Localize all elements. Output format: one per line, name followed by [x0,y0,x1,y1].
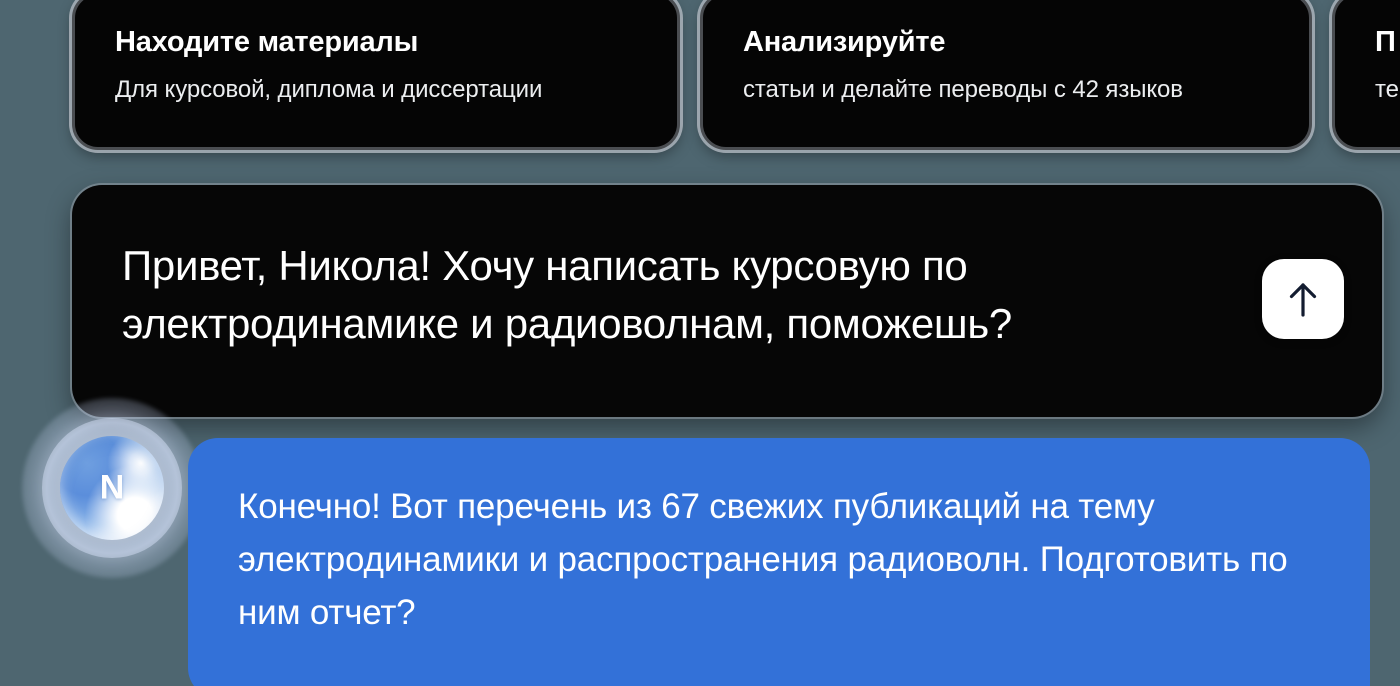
feature-card-subtitle: статьи и делайте переводы с 42 языков [743,75,1295,105]
assistant-message-text: Конечно! Вот перечень из 67 свежих публи… [238,480,1298,639]
feature-cards-row: Находите материалы Для курсовой, диплома… [0,0,1400,160]
feature-card-subtitle: те [1375,75,1400,105]
feature-card-subtitle: Для курсовой, диплома и диссертации [115,75,663,105]
chat-screen: Находите материалы Для курсовой, диплома… [0,0,1400,686]
feature-card-title: Анализируйте [743,25,1295,59]
feature-card-analyze[interactable]: Анализируйте статьи и делайте переводы с… [700,0,1312,150]
assistant-message-bubble[interactable]: Конечно! Вот перечень из 67 свежих публи… [188,438,1370,686]
user-message-bubble[interactable]: Привет, Никола! Хочу написать курсовую п… [72,185,1382,417]
avatar-ring [42,418,182,558]
feature-card-title: П [1375,25,1400,59]
feature-card-third-partial[interactable]: П те [1332,0,1400,150]
user-message-text: Привет, Никола! Хочу написать курсовую п… [122,237,1202,353]
feature-card-title: Находите материалы [115,25,663,59]
avatar-glow [22,398,202,578]
send-button[interactable] [1262,259,1344,339]
assistant-sphere-icon: N [60,436,164,540]
feature-card-content: П те [1375,25,1400,105]
feature-card-content: Находите материалы Для курсовой, диплома… [115,25,663,105]
assistant-avatar: N [22,398,202,578]
feature-card-content: Анализируйте статьи и делайте переводы с… [743,25,1295,105]
avatar-letter: N [60,470,164,504]
feature-card-find-materials[interactable]: Находите материалы Для курсовой, диплома… [72,0,680,150]
arrow-up-icon [1286,280,1320,318]
